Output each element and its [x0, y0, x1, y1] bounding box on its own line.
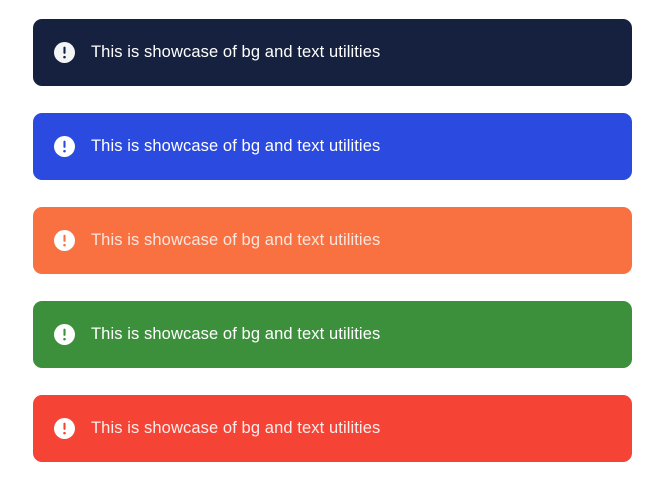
exclamation-circle-icon	[54, 230, 75, 251]
exclamation-circle-icon	[54, 418, 75, 439]
exclamation-circle-icon	[54, 42, 75, 63]
alert-message: This is showcase of bg and text utilitie…	[91, 420, 380, 437]
alert-banner-success: This is showcase of bg and text utilitie…	[33, 301, 632, 368]
exclamation-circle-icon	[54, 324, 75, 345]
alert-banner-danger: This is showcase of bg and text utilitie…	[33, 395, 632, 462]
alert-banner-warning: This is showcase of bg and text utilitie…	[33, 207, 632, 274]
alert-message: This is showcase of bg and text utilitie…	[91, 326, 380, 343]
alert-banner-primary: This is showcase of bg and text utilitie…	[33, 113, 632, 180]
alert-message: This is showcase of bg and text utilitie…	[91, 44, 380, 61]
alert-message: This is showcase of bg and text utilitie…	[91, 232, 380, 249]
alert-banner-dark: This is showcase of bg and text utilitie…	[33, 19, 632, 86]
exclamation-circle-icon	[54, 136, 75, 157]
alert-message: This is showcase of bg and text utilitie…	[91, 138, 380, 155]
alert-stack: This is showcase of bg and text utilitie…	[0, 0, 665, 462]
